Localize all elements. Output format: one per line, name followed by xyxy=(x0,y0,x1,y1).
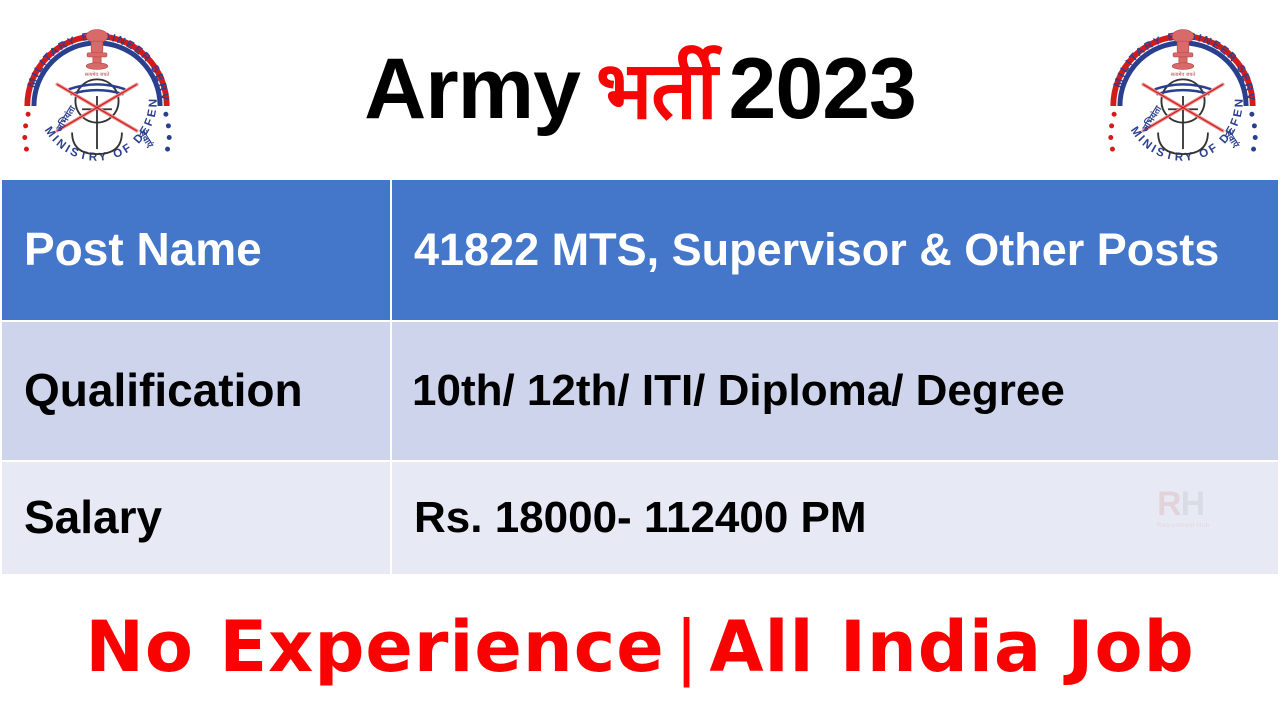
row-value-qualification: 10th/ 12th/ ITI/ Diploma/ Degree xyxy=(391,321,1279,461)
title-part-year: 2023 xyxy=(729,46,916,132)
title-part-army: Army xyxy=(364,46,580,132)
row-value-post-name: 41822 MTS, Supervisor & Other Posts xyxy=(391,179,1279,321)
table-row: Salary Rs. 18000- 112400 PM xyxy=(1,461,1279,575)
mes-emblem-left-icon: MILITARY ENGINEER SERVICES MINISTRY OF D… xyxy=(14,8,180,174)
svg-text:सत्यमेव जयते: सत्यमेव जयते xyxy=(85,71,110,78)
poster-header: MILITARY ENGINEER SERVICES MINISTRY OF D… xyxy=(0,0,1280,178)
row-label-qualification: Qualification xyxy=(1,321,391,461)
table-row: Qualification 10th/ 12th/ ITI/ Diploma/ … xyxy=(1,321,1279,461)
svg-text:अभियंता: अभियंता xyxy=(53,103,79,134)
svg-text:अभियंता: अभियंता xyxy=(1139,103,1165,134)
row-label-salary: Salary xyxy=(1,461,391,575)
svg-text:सत्यमेव जयते: सत्यमेव जयते xyxy=(1171,71,1196,78)
poster-title: Army भर्ती 2023 xyxy=(200,0,1080,178)
footer-right-text: All India Job xyxy=(709,606,1194,688)
row-label-post-name: Post Name xyxy=(1,179,391,321)
table-row: Post Name 41822 MTS, Supervisor & Other … xyxy=(1,179,1279,321)
poster-canvas: MILITARY ENGINEER SERVICES MINISTRY OF D… xyxy=(0,0,1280,720)
poster-footer: No Experience|All India Job xyxy=(0,574,1280,720)
title-part-hindi: भर्ती xyxy=(596,51,717,131)
footer-separator: | xyxy=(675,606,700,688)
mes-emblem-right-icon: MILITARY ENGINEER SERVICES MINISTRY OF D… xyxy=(1100,8,1266,174)
footer-tagline: No Experience|All India Job xyxy=(85,606,1194,688)
footer-left-text: No Experience xyxy=(85,606,664,688)
row-value-salary: Rs. 18000- 112400 PM xyxy=(391,461,1279,575)
details-table: Post Name 41822 MTS, Supervisor & Other … xyxy=(0,178,1280,576)
